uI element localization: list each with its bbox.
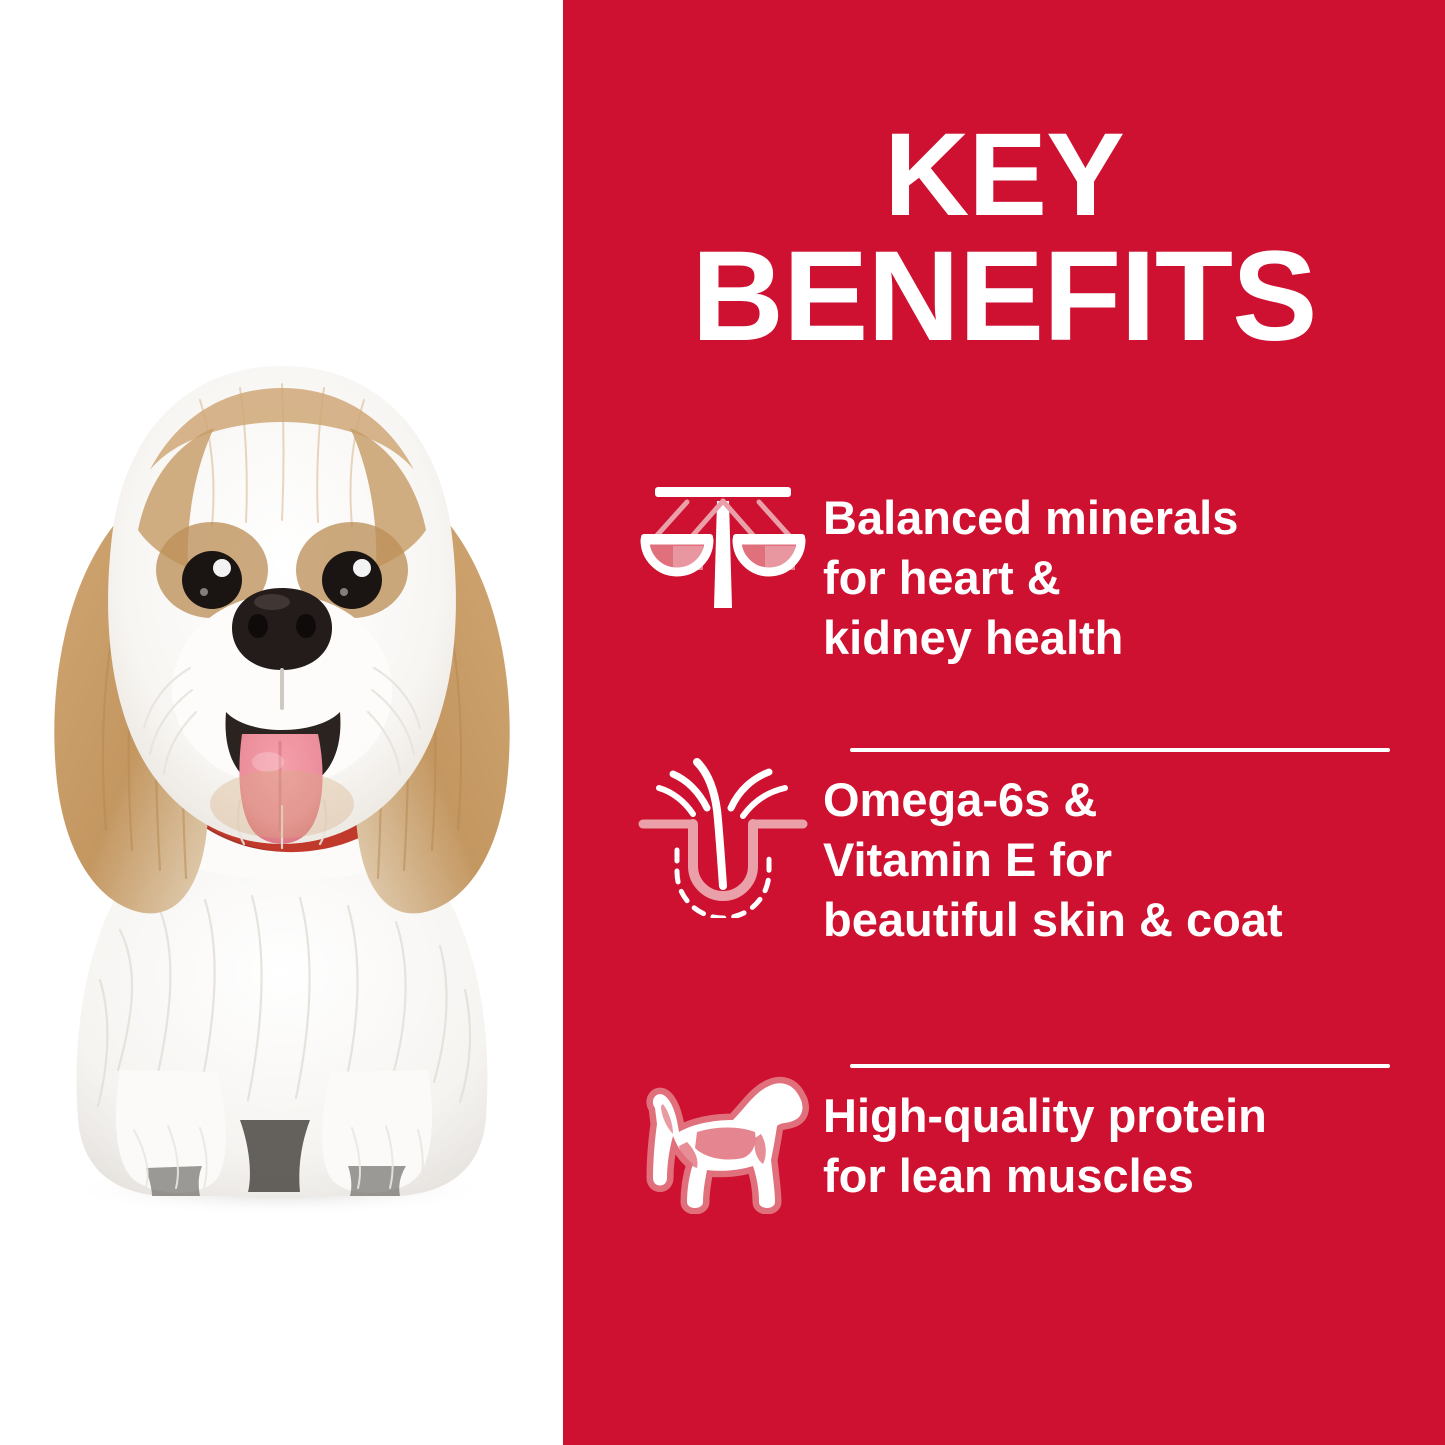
benefit-list: Balanced minerals for heart & kidney hea… (563, 470, 1445, 1248)
benefit-text-omega: Omega-6s & Vitamin E for beautiful skin … (823, 752, 1283, 950)
dog-muscle-icon (623, 1068, 823, 1214)
benefit-item-protein: High-quality protein for lean muscles (563, 1068, 1445, 1248)
page-title: KEY BENEFITS (563, 118, 1445, 359)
shih-tzu-dog-photo (0, 330, 563, 1220)
benefit-item-minerals: Balanced minerals for heart & kidney hea… (563, 470, 1445, 730)
benefit-text-minerals: Balanced minerals for heart & kidney hea… (823, 470, 1238, 668)
benefits-panel: KEY BENEFITS (563, 0, 1445, 1445)
balance-scale-icon (623, 470, 823, 626)
hair-follicle-icon (623, 752, 823, 918)
photo-panel (0, 0, 563, 1445)
benefit-item-omega: Omega-6s & Vitamin E for beautiful skin … (563, 752, 1445, 1052)
page-title-line-2: BENEFITS (563, 234, 1445, 359)
page-title-line-1: KEY (563, 118, 1445, 234)
key-benefits-page: KEY BENEFITS (0, 0, 1445, 1445)
benefit-text-protein: High-quality protein for lean muscles (823, 1068, 1267, 1206)
